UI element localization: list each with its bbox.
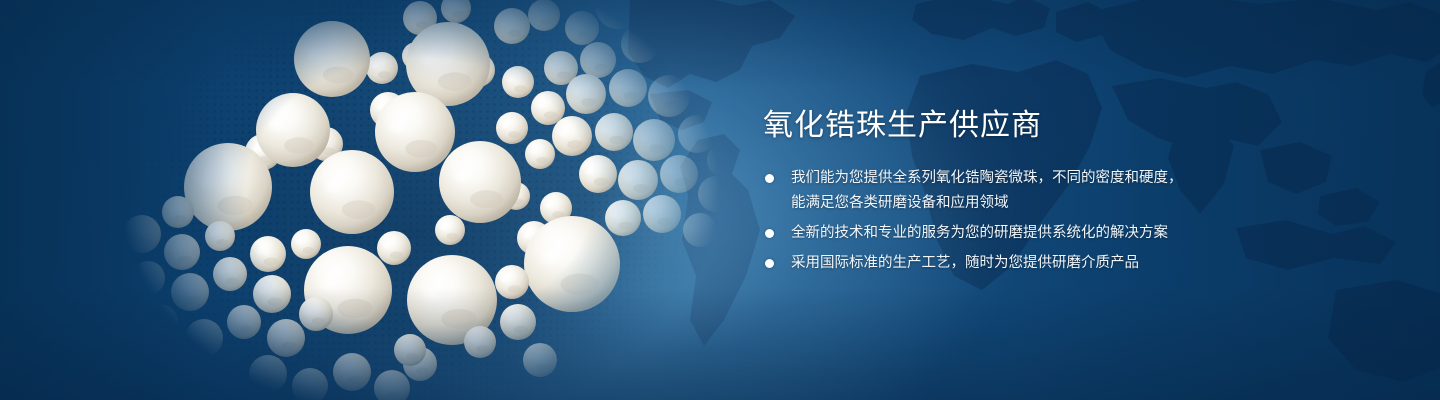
bullet-dot-icon <box>765 174 774 183</box>
banner-vignette <box>0 0 1440 400</box>
feature-item-3-line1: 采用国际标准的生产工艺，随时为您提供研磨介质产品 <box>791 255 1139 271</box>
feature-item-3: 采用国际标准的生产工艺，随时为您提供研磨介质产品 <box>763 251 1223 276</box>
feature-item-2: 全新的技术和专业的服务为您的研磨提供系统化的解决方案 <box>763 221 1223 246</box>
feature-item-2-line1: 全新的技术和专业的服务为您的研磨提供系统化的解决方案 <box>791 225 1168 241</box>
banner-headline: 氧化锆珠生产供应商 <box>763 108 1223 144</box>
feature-list: 我们能为您提供全系列氧化锆陶瓷微珠，不同的密度和硬度， 能满足您各类研磨设备和应… <box>763 166 1223 276</box>
bullet-dot-icon <box>765 229 774 238</box>
feature-item-1-line1: 我们能为您提供全系列氧化锆陶瓷微珠，不同的密度和硬度， <box>791 170 1183 186</box>
feature-item-1-line2: 能满足您各类研磨设备和应用领域 <box>791 191 1223 216</box>
hero-banner: 氧化锆珠生产供应商 我们能为您提供全系列氧化锆陶瓷微珠，不同的密度和硬度， 能满… <box>0 0 1440 400</box>
feature-item-1: 我们能为您提供全系列氧化锆陶瓷微珠，不同的密度和硬度， 能满足您各类研磨设备和应… <box>763 166 1223 216</box>
bullet-dot-icon <box>765 259 774 268</box>
banner-content: 氧化锆珠生产供应商 我们能为您提供全系列氧化锆陶瓷微珠，不同的密度和硬度， 能满… <box>763 108 1223 281</box>
